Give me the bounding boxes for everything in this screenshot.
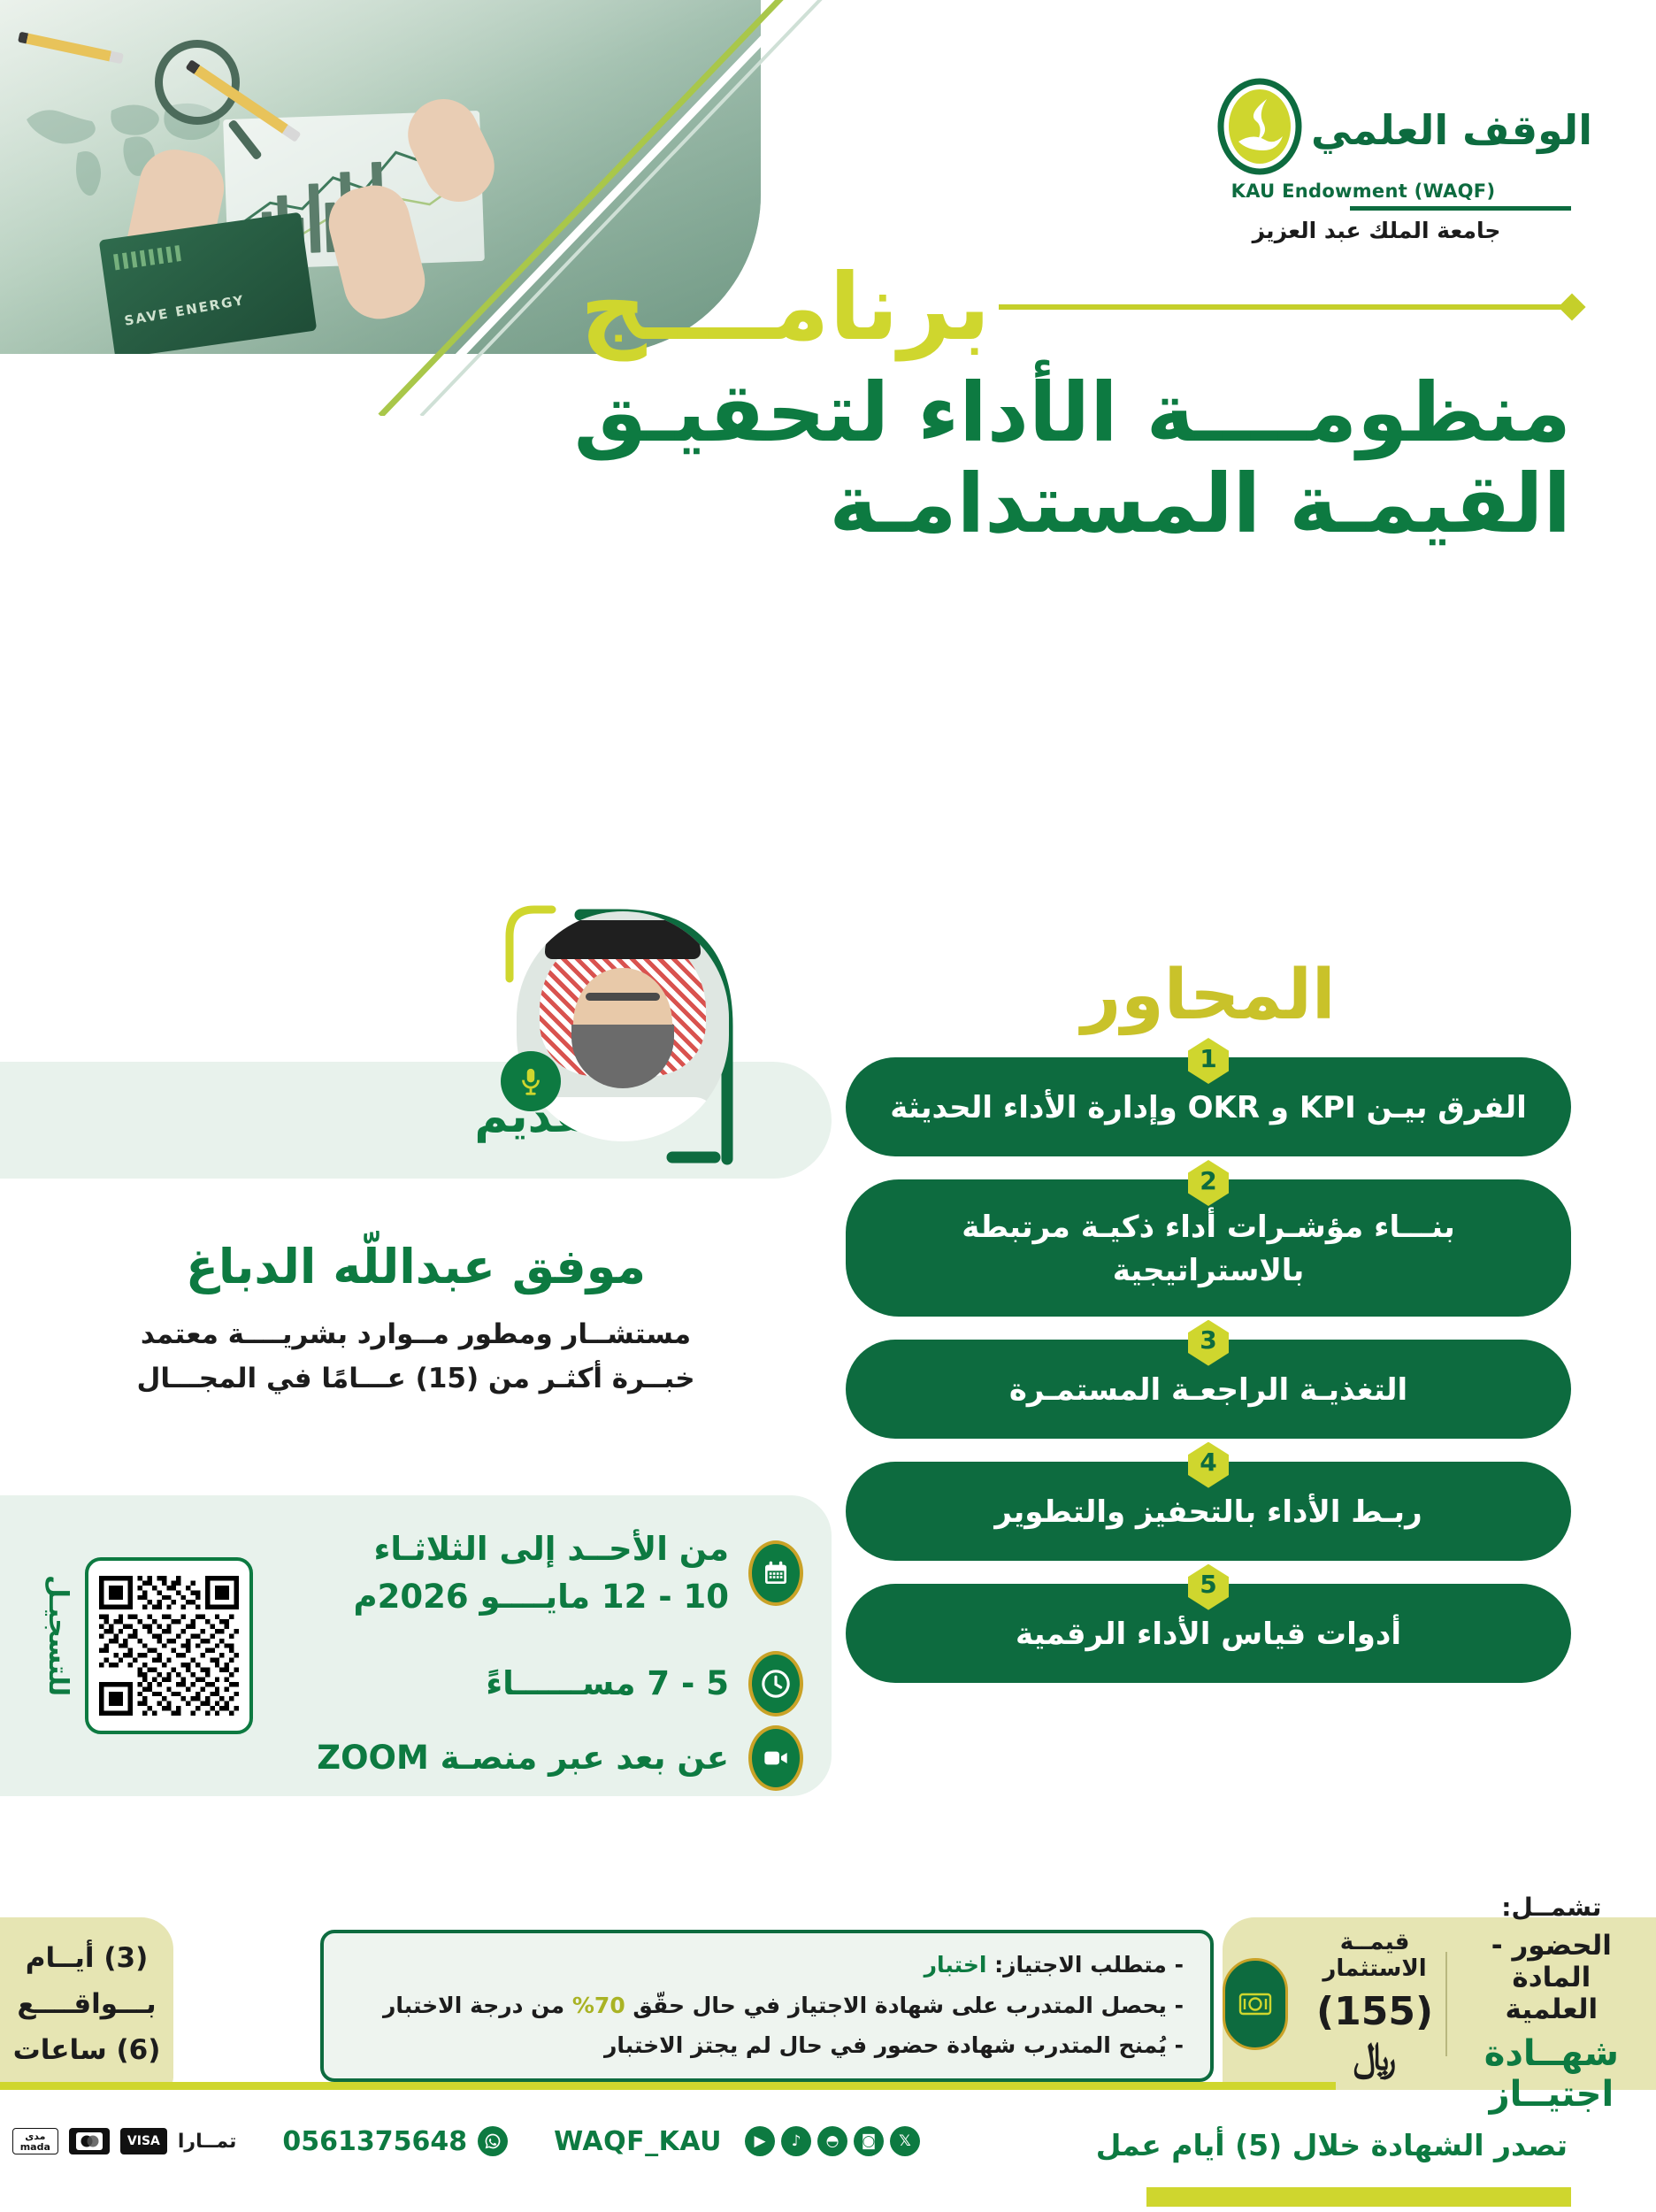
tiktok-icon[interactable]: ♪ <box>781 2126 811 2156</box>
program-kicker: برنامــــج <box>580 261 990 353</box>
money-icon <box>1223 1958 1288 2050</box>
program-kicker-row: برنامــــج <box>580 261 1571 353</box>
condition-note-2: - يحصل المتدرب على شهادة الاجتياز في حال… <box>350 1992 1184 2021</box>
presenter-photo-frame <box>495 894 752 1168</box>
panel-divider <box>1445 1952 1447 2056</box>
logistics-time-text: 5 - 7 مســــــاءً <box>308 1660 729 1708</box>
video-camera-icon <box>748 1725 803 1791</box>
axis-item[interactable]: 1 الفرق بيـن KPI و OKR وإدارة الأداء الح… <box>846 1057 1571 1156</box>
logo-divider-rule <box>1350 206 1571 211</box>
logistics-row-date: من الأحــد إلى الثلاثـاء 10 - 12 مايــــ… <box>308 1525 803 1620</box>
bottom-info-strip: قيمــة الاستثمار (155) ﷼ تشمــل: الحضور … <box>0 1917 1656 2090</box>
presenter-avatar <box>517 911 729 1141</box>
includes-column: تشمــل: الحضور - المادة العلمية شهــادة … <box>1447 1893 1656 2115</box>
save-energy-text: SAVE ENERGY <box>123 292 246 329</box>
mada-label-en: mada <box>20 2142 50 2152</box>
presenter-name: موفق عبداللّه الدباغ <box>0 1239 832 1294</box>
title-line-1: منظومــــة الأداء لتحقيـق <box>574 365 1571 460</box>
date-range: 10 - 12 مايــــو 2026م <box>308 1573 729 1621</box>
axes-section-title: المحاور <box>846 956 1571 1035</box>
investment-column: قيمــة الاستثمار (155) ﷼ <box>1304 1929 1445 2079</box>
magnifier-icon <box>155 40 240 125</box>
conditions-panel: - متطلب الاجتياز: اختبار - يحصل المتدرب … <box>320 1930 1214 2082</box>
axis-item[interactable]: 4 ربـط الأداء بالتحفيز والتطوير <box>846 1462 1571 1561</box>
logo-university-name-ar: جامعة الملك عبد العزيز <box>1217 218 1571 243</box>
includes-label: تشمــل: <box>1467 1893 1637 1922</box>
footer-accent-bar <box>1146 2187 1571 2207</box>
register-label: للتسجيـل <box>42 1575 73 1696</box>
duration-days: (3) أيــام <box>26 1942 149 1974</box>
investment-label: قيمــة الاستثمار <box>1316 1929 1433 1982</box>
instagram-icon[interactable]: ◙ <box>854 2126 884 2156</box>
youtube-icon[interactable]: ▶ <box>745 2126 775 2156</box>
investment-panel: قيمــة الاستثمار (155) ﷼ تشمــل: الحضور … <box>1223 1917 1656 2090</box>
logistics-row-time: 5 - 7 مســــــاءً <box>308 1651 803 1717</box>
logo-wordmark-en: KAU Endowment (WAQF) <box>1217 180 1571 202</box>
registration-qr-code[interactable] <box>85 1557 253 1734</box>
waqf-flame-seal-icon <box>1217 78 1302 175</box>
logistics-row-platform: عن بعد عبر منصـة ZOOM <box>308 1725 803 1791</box>
social-icons-group: 𝕏 ◙ ◓ ♪ ▶ <box>745 2126 920 2156</box>
strip-accent-underline <box>0 2082 1336 2090</box>
snapchat-icon[interactable]: ◓ <box>817 2126 847 2156</box>
footer-contact-bar: 𝕏 ◙ ◓ ♪ ▶ WAQF_KAU 0561375648 تمــارا VI… <box>35 2122 920 2161</box>
condition-note-1: - متطلب الاجتياز: اختبار <box>350 1951 1184 1980</box>
page-title: منظومــــة الأداء لتحقيـق القيمـة المستد… <box>67 367 1571 549</box>
kicker-accent-line <box>999 304 1571 310</box>
mada-logo: مدى mada <box>12 2128 58 2154</box>
investment-price: (155) ﷼ <box>1316 1989 1433 2079</box>
beard-shape <box>571 1025 674 1088</box>
kau-waqf-logo: الوقف العلمي KAU Endowment (WAQF) جامعة … <box>1217 78 1571 243</box>
clock-icon <box>748 1651 803 1717</box>
logistics-date-text: من الأحــد إلى الثلاثـاء 10 - 12 مايــــ… <box>308 1525 729 1620</box>
title-line-2: القيمـة المستدامـة <box>67 458 1571 549</box>
social-handle: WAQF_KAU <box>554 2126 722 2157</box>
whatsapp-icon[interactable] <box>478 2126 508 2156</box>
certificate-issue-note: تصدر الشهادة خلال (5) أيام عمل <box>1096 2128 1568 2162</box>
axis-item[interactable]: 5 أدوات قياس الأداء الرقمية <box>846 1584 1571 1683</box>
presenter-credential-2: خبــرة أكثـر من (15) عـــامًا في المجـــ… <box>0 1363 832 1394</box>
phone-group[interactable]: 0561375648 <box>282 2126 508 2157</box>
condition-note-3: - يُمنح المتدرب شهادة حضور في حال لم يجت… <box>350 2032 1184 2061</box>
duration-hours: (6) ساعات <box>13 2034 161 2066</box>
igal-band <box>545 920 701 959</box>
presenter-credential-1: مستشــار ومطور مــوارد بشريــــة معتمد <box>0 1318 832 1350</box>
phone-number: 0561375648 <box>282 2126 467 2157</box>
includes-certificate: شهــادة اجتيــاز <box>1467 2033 1637 2115</box>
logo-wordmark-ar: الوقف العلمي <box>1311 110 1592 150</box>
mada-label-ar: مدى <box>25 2131 45 2141</box>
x-twitter-icon[interactable]: 𝕏 <box>890 2126 920 2156</box>
mastercard-logo <box>69 2128 110 2154</box>
payment-methods-group: تمــارا VISA مدى mada <box>12 2128 237 2154</box>
visa-logo: VISA <box>120 2128 167 2154</box>
date-weekday: من الأحــد إلى الثلاثـاء <box>308 1525 729 1573</box>
card-leds <box>113 245 181 270</box>
axis-item[interactable]: 2 بنـــاء مؤشـرات أداء ذكيـة مرتبطة بالا… <box>846 1179 1571 1317</box>
axes-list: 1 الفرق بيـن KPI و OKR وإدارة الأداء الح… <box>846 1057 1571 1706</box>
microphone-icon <box>501 1051 561 1111</box>
thobe-shape <box>530 1097 716 1141</box>
qr-code-graphic <box>99 1571 239 1720</box>
duration-panel: (3) أيــام بـــواقــــع (6) ساعات <box>0 1917 173 2090</box>
logistics-platform-text: عن بعد عبر منصـة ZOOM <box>308 1734 729 1782</box>
eyebrows <box>586 993 660 1001</box>
calendar-icon <box>748 1540 803 1606</box>
duration-connector: بـــواقــــع <box>17 1988 156 2020</box>
axis-item[interactable]: 3 التغذيـة الراجعـة المستمـرة <box>846 1340 1571 1439</box>
includes-items: الحضور - المادة العلمية <box>1467 1930 1637 2025</box>
tamara-logo: تمــارا <box>178 2131 237 2153</box>
